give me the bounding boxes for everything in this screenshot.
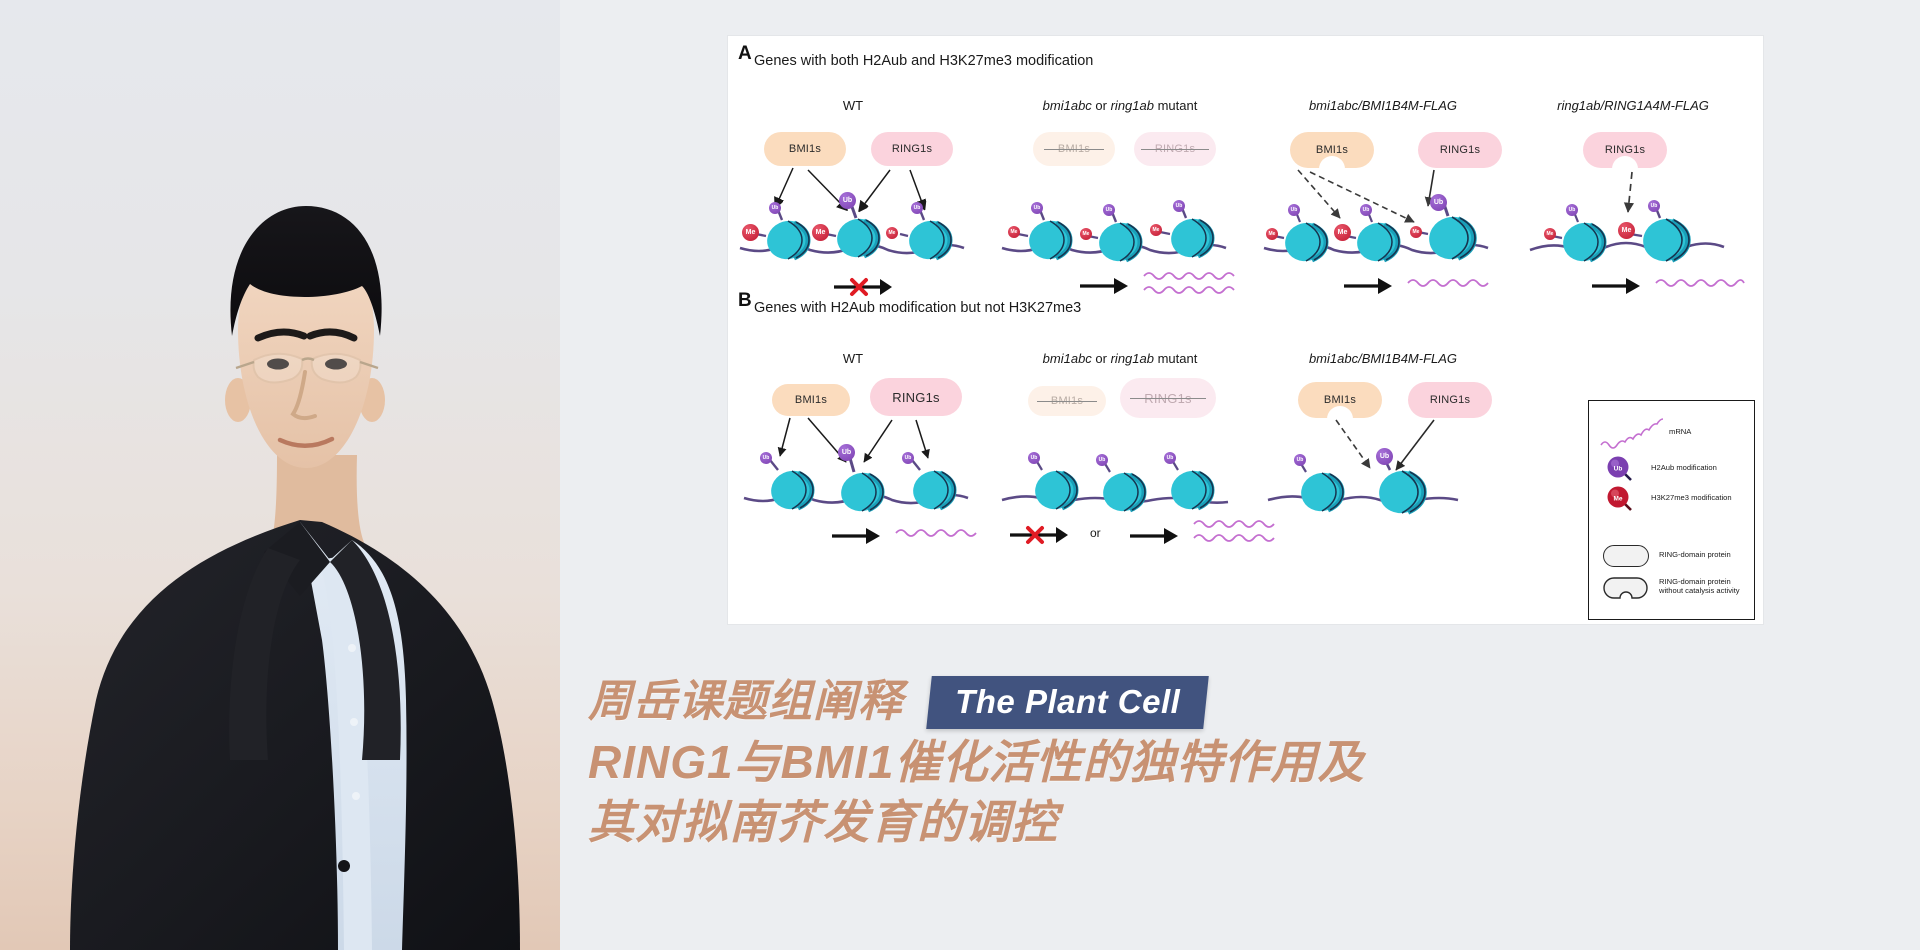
panel-b-col-title-3: bmi1abc/BMI1B4M-FLAG [1309, 351, 1457, 366]
figure-legend: mRNA Ub H2Aub modification Me H3K27me3 m… [1588, 400, 1755, 620]
ub-mod-a2-1: Ub [1031, 202, 1043, 214]
bmi-bubble-a1: BMI1s [764, 132, 846, 166]
bmi-bubble-b2-label: BMI1s [1051, 395, 1083, 407]
ub-mod-a2-3: Ub [1173, 200, 1185, 212]
panel-a-col-title-3: bmi1abc/BMI1B4M-FLAG [1309, 98, 1457, 113]
me-ball-icon: Me [1605, 485, 1635, 513]
me-mod-a1-3: Me [886, 227, 898, 239]
chromatin-a3 [1262, 164, 1512, 274]
ring-bubble-b3-label: RING1s [1430, 394, 1470, 406]
bmi-bubble-b1-label: BMI1s [795, 394, 827, 406]
ring-bubble-a2: RING1s [1134, 132, 1216, 166]
ring-bubble-a3-label: RING1s [1440, 144, 1480, 156]
headline-line-2: RING1与BMI1催化活性的独特作用及 [588, 732, 1908, 792]
bmi-bubble-a2-label: BMI1s [1058, 143, 1090, 155]
me-mod-a1-2: Me [812, 224, 829, 241]
headline-line-1: 周岳课题组阐释 [588, 672, 903, 732]
svg-text:Ub: Ub [1614, 466, 1623, 473]
mrna-a2 [1142, 266, 1252, 300]
ub-mod-a2-2: Ub [1103, 204, 1115, 216]
ub-mod-a4-1: Ub [1566, 204, 1578, 216]
me-mod-a2-2: Me [1080, 228, 1092, 240]
panel-b-col-title-1: WT [843, 351, 863, 366]
transcription-blocked-a1 [828, 274, 900, 300]
ub-mod-b3-1: Ub [1294, 454, 1306, 466]
bmi-bubble-a1-label: BMI1s [789, 143, 821, 155]
transcription-arrow-a2 [1076, 274, 1136, 298]
bmi-bubble-b3-label: BMI1s [1324, 394, 1356, 406]
ub-mod-a1-1: Ub [769, 202, 781, 214]
ub-mod-b2-3: Ub [1164, 452, 1176, 464]
mrna-b1 [894, 524, 990, 542]
panel-a-col-title-1: WT [843, 98, 863, 113]
ring-bubble-b3: RING1s [1408, 382, 1492, 418]
ring-bubble-b2: RING1s [1120, 378, 1216, 418]
chromatin-b2 [1000, 414, 1250, 524]
headline-line-3: 其对拟南芥发育的调控 [588, 792, 1908, 852]
legend-label-h3k27me3: H3K27me3 modification [1651, 493, 1732, 502]
ub-mod-b1-2: Ub [838, 444, 855, 461]
or-label-b2: or [1090, 526, 1101, 540]
ring-capsule-notched-icon [1603, 577, 1649, 599]
panel-a-col-title-4: ring1ab/RING1A4M-FLAG [1557, 98, 1709, 113]
ub-mod-a1-3: Ub [911, 202, 923, 214]
ring-bubble-a4: RING1s [1583, 132, 1667, 168]
portrait-photo [0, 0, 560, 950]
bmi-bubble-a2: BMI1s [1033, 132, 1115, 166]
transcription-arrow-b2 [1126, 524, 1186, 548]
ring-bubble-a1-label: RING1s [892, 143, 932, 155]
ub-mod-a3-1: Ub [1288, 204, 1300, 216]
ring-bubble-a1: RING1s [871, 132, 953, 166]
transcription-arrow-a4 [1588, 274, 1648, 298]
bmi-bubble-b2: BMI1s [1028, 386, 1106, 416]
chromatin-a4 [1528, 164, 1758, 274]
panel-a-letter: A [738, 44, 752, 63]
me-mod-a2-3: Me [1150, 224, 1162, 236]
ub-mod-b1-3: Ub [902, 452, 914, 464]
panel-a-caption: Genes with both H2Aub and H3K27me3 modif… [754, 53, 1093, 69]
ub-mod-a3-2: Ub [1360, 204, 1372, 216]
mrna-squiggle-icon [1599, 415, 1665, 449]
me-mod-a4-1: Me [1544, 228, 1556, 240]
legend-label-ring-domain: RING-domain protein [1659, 550, 1731, 559]
bmi-bubble-b1: BMI1s [772, 384, 850, 416]
portrait-illustration [0, 0, 560, 950]
legend-label-mrna: mRNA [1669, 427, 1691, 436]
panel-b-caption: Genes with H2Aub modification but not H3… [754, 300, 1081, 316]
chromatin-a2 [1000, 164, 1250, 274]
panel-a-col-title-2: bmi1abc or ring1ab mutant [1043, 98, 1198, 113]
headline-block: 周岳课题组阐释 The Plant Cell RING1与BMI1催化活性的独特… [588, 672, 1908, 852]
mrna-a3 [1406, 274, 1506, 292]
ub-mod-a3-3: Ub [1430, 194, 1447, 211]
legend-label-ring-domain-nocat: RING-domain protein without catalysis ac… [1659, 577, 1749, 596]
chromatin-b3 [1266, 414, 1516, 524]
me-mod-a3-1: Me [1266, 228, 1278, 240]
bmi-bubble-a3: BMI1s [1290, 132, 1374, 168]
ring-bubble-b1-label: RING1s [892, 390, 939, 405]
ub-mod-b1-1: Ub [760, 452, 772, 464]
ub-ball-icon: Ub [1605, 455, 1635, 483]
panel-b-col-title-2: bmi1abc or ring1ab mutant [1043, 351, 1198, 366]
legend-label-h2aub: H2Aub modification [1651, 463, 1717, 472]
ring-capsule-icon [1603, 545, 1649, 567]
chromatin-b1 [742, 414, 992, 524]
me-mod-a3-2: Me [1334, 224, 1351, 241]
me-mod-a4-2: Me [1618, 222, 1635, 239]
chromatin-a1 [738, 164, 988, 274]
bmi-bubble-a3-label: BMI1s [1316, 144, 1348, 156]
ub-mod-b2-1: Ub [1028, 452, 1040, 464]
mrna-a4 [1654, 274, 1758, 292]
ring-bubble-b2-label: RING1s [1144, 391, 1191, 406]
ring-bubble-a4-label: RING1s [1605, 144, 1645, 156]
journal-badge-label: The Plant Cell [955, 685, 1180, 718]
me-mod-a3-3: Me [1410, 226, 1422, 238]
ring-bubble-b1: RING1s [870, 378, 962, 416]
transcription-arrow-b1 [828, 524, 888, 548]
headline-row-1: 周岳课题组阐释 The Plant Cell [588, 672, 1908, 732]
ring-bubble-a2-label: RING1s [1155, 143, 1195, 155]
ub-mod-a1-2: Ub [839, 192, 856, 209]
journal-badge: The Plant Cell [926, 676, 1209, 729]
me-mod-a1-1: Me [742, 224, 759, 241]
transcription-blocked-b2 [1006, 522, 1078, 548]
ring-bubble-a3: RING1s [1418, 132, 1502, 168]
panel-b-letter: B [738, 291, 752, 310]
ub-mod-b3-2: Ub [1376, 448, 1393, 465]
transcription-arrow-a3 [1340, 274, 1400, 298]
ub-mod-a4-2: Ub [1648, 200, 1660, 212]
svg-text:Me: Me [1613, 496, 1622, 503]
bmi-bubble-b3: BMI1s [1298, 382, 1382, 418]
ub-mod-b2-2: Ub [1096, 454, 1108, 466]
me-mod-a2-1: Me [1008, 226, 1020, 238]
